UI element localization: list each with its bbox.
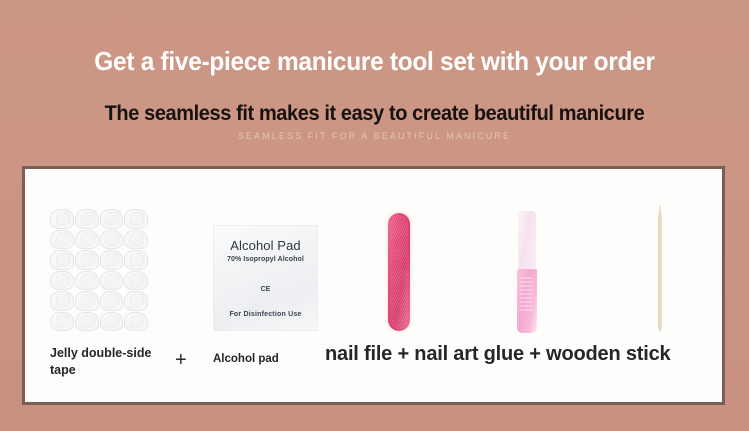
sachet-subtitle: 70% Isopropyl Alcohol	[227, 256, 304, 263]
jelly-tab	[75, 312, 99, 332]
jelly-tab	[124, 250, 148, 270]
jelly-tab	[50, 230, 74, 250]
jelly-tab	[124, 271, 148, 291]
product-image-row: Alcohol Pad 70% Isopropyl Alcohol CE For…	[25, 187, 722, 337]
label-alcohol-pad: Alcohol pad	[213, 353, 333, 365]
jelly-tab	[75, 271, 99, 291]
jelly-tab	[124, 230, 148, 250]
jelly-tape-sheet-image	[50, 209, 148, 331]
product-showcase-panel: Alcohol Pad 70% Isopropyl Alcohol CE For…	[22, 166, 725, 405]
jelly-tab	[50, 271, 74, 291]
jelly-tab	[100, 291, 124, 311]
jelly-tab	[124, 312, 148, 332]
jelly-tab	[75, 230, 99, 250]
product-label-row: Jelly double-side tape + Alcohol pad nai…	[25, 341, 722, 393]
nail-file-image	[388, 213, 410, 331]
subheadline: The seamless fit makes it easy to create…	[19, 103, 731, 125]
jelly-tab	[100, 230, 124, 250]
jelly-tab	[100, 250, 124, 270]
jelly-tab	[50, 250, 74, 270]
sachet-footer: For Disinfection Use	[229, 311, 301, 318]
jelly-tab	[50, 209, 74, 229]
nail-art-glue-image	[517, 211, 537, 333]
jelly-tab	[75, 209, 99, 229]
wooden-stick-body	[658, 205, 661, 333]
micro-caption: SEAMLESS FIT FOR A BEAUTIFUL MANICURE	[0, 131, 749, 141]
wooden-stick-image	[656, 205, 664, 333]
label-jelly-tape: Jelly double-side tape	[50, 345, 170, 379]
jelly-tab	[124, 291, 148, 311]
jelly-tab	[124, 209, 148, 229]
glue-cap	[518, 211, 536, 271]
alcohol-pad-sachet-image: Alcohol Pad 70% Isopropyl Alcohol CE For…	[213, 225, 318, 331]
glue-body	[517, 269, 537, 333]
sachet-title: Alcohol Pad	[230, 238, 300, 253]
label-plus-separator: +	[175, 349, 187, 372]
headline: Get a five-piece manicure tool set with …	[22, 48, 726, 75]
jelly-tab	[100, 271, 124, 291]
ce-mark: CE	[261, 286, 271, 293]
jelly-tab	[75, 291, 99, 311]
jelly-tab	[50, 312, 74, 332]
jelly-tab	[75, 250, 99, 270]
label-right-group: nail file + nail art glue + wooden stick	[325, 343, 670, 366]
jelly-tab	[100, 312, 124, 332]
jelly-tab-grid	[50, 209, 148, 331]
jelly-tab	[100, 209, 124, 229]
jelly-tab	[50, 291, 74, 311]
promo-banner: Get a five-piece manicure tool set with …	[0, 0, 749, 431]
